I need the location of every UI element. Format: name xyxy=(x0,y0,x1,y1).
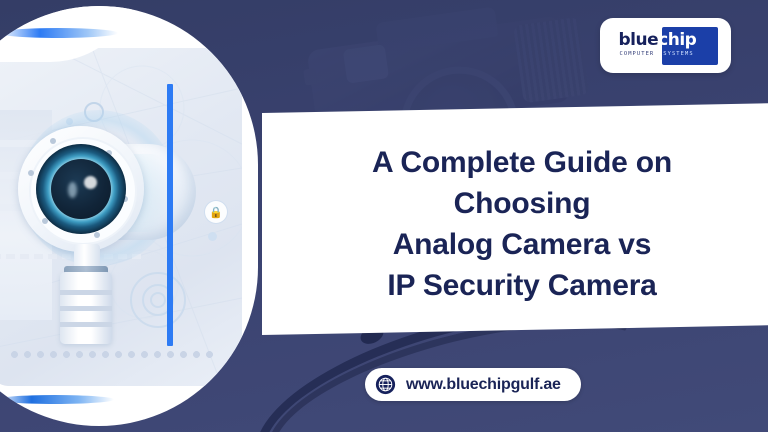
camera-nub xyxy=(303,68,317,86)
mount-band xyxy=(60,290,112,295)
website-url-badge[interactable]: www.bluechipgulf.ae xyxy=(365,368,581,401)
logo-lockup: bluechip COMPUTER SYSTEMS xyxy=(612,26,720,66)
blue-accent-bar xyxy=(167,84,173,346)
lock-icon: 🔒 xyxy=(204,200,228,224)
globe-icon xyxy=(375,374,396,395)
housing-screw xyxy=(28,170,34,176)
network-node-dot xyxy=(208,232,217,241)
headline-text-block: A Complete Guide on Choosing Analog Came… xyxy=(276,116,768,332)
logo-word-blue: blue xyxy=(619,30,659,50)
bluechip-logo[interactable]: bluechip COMPUTER SYSTEMS xyxy=(600,18,731,73)
lens-pupil xyxy=(51,159,111,219)
blog-banner: A Complete Guide on Choosing Analog Came… xyxy=(0,0,768,432)
mount-band xyxy=(60,306,112,311)
security-camera-photo: 🔒 xyxy=(0,48,242,386)
logo-word-chip: chip xyxy=(658,30,696,50)
lens-glint xyxy=(84,176,97,189)
logo-tagline-systems: SYSTEMS xyxy=(663,50,693,58)
logo-tagline-computer: COMPUTER xyxy=(620,50,655,58)
blue-arc-bottom xyxy=(0,395,114,404)
camera-grip xyxy=(513,17,589,103)
dotted-accent-row xyxy=(8,351,218,358)
website-url-text: www.bluechipgulf.ae xyxy=(406,376,561,394)
headline-line-1: A Complete Guide on xyxy=(372,142,672,183)
housing-screw xyxy=(94,232,100,238)
logo-wordmark: bluechip xyxy=(619,31,719,49)
mount-band xyxy=(60,322,112,327)
housing-screw xyxy=(50,138,56,144)
blue-arc-top xyxy=(0,28,118,38)
headline-line-3: Analog Camera vs xyxy=(393,224,652,265)
lens-glint-secondary xyxy=(68,182,77,198)
left-image-frame: 🔒 xyxy=(0,6,258,426)
headline-line-2: Choosing xyxy=(454,183,591,224)
headline-line-4: IP Security Camera xyxy=(387,265,656,306)
logo-tagline: COMPUTER SYSTEMS xyxy=(620,50,720,58)
camera-viewfinder xyxy=(343,44,389,84)
